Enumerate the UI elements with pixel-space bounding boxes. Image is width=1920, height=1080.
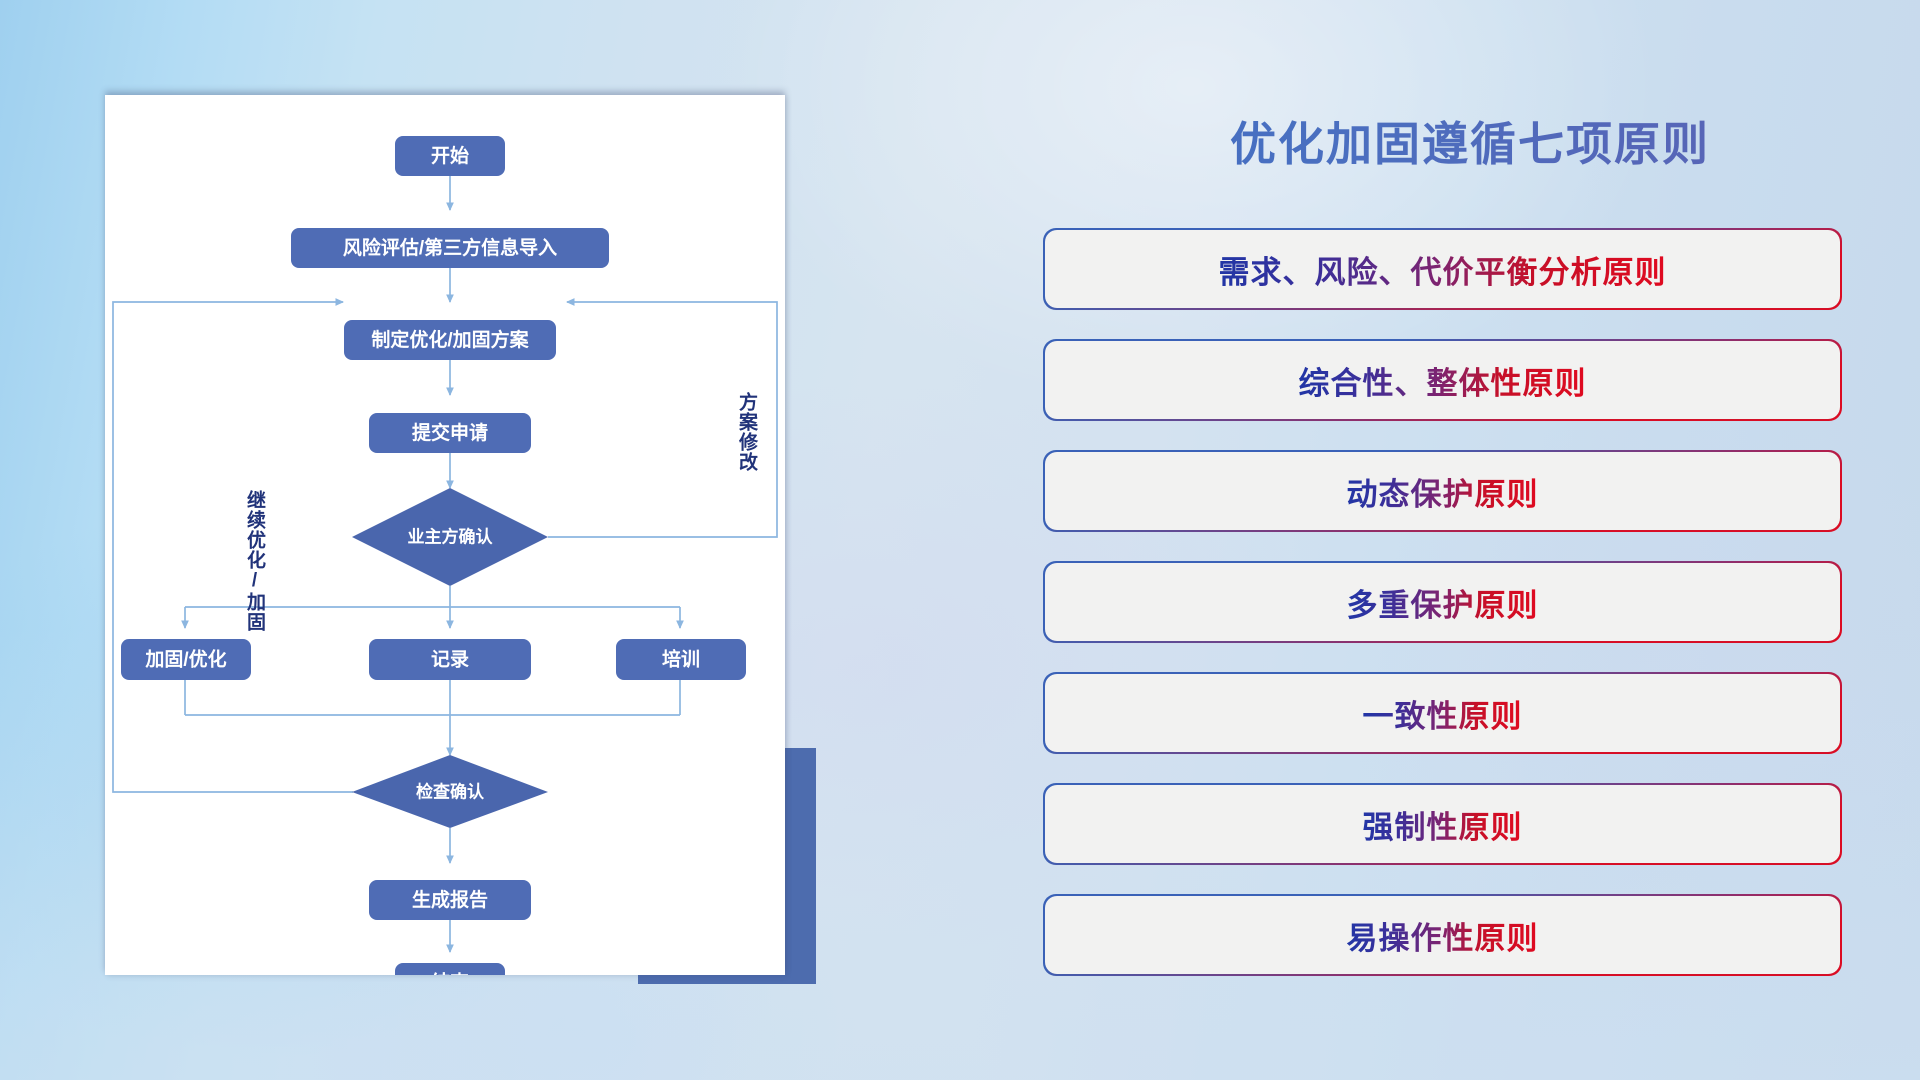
flow-node-train: 培训 <box>616 639 746 680</box>
flowchart-card: 开始 风险评估/第三方信息导入 制定优化/加固方案 提交申请 业主方确认 加固/… <box>105 95 785 975</box>
principle-label-4: 多重保护原则 <box>1347 580 1539 625</box>
flow-node-submit-label: 提交申请 <box>412 421 488 444</box>
flow-node-risk: 风险评估/第三方信息导入 <box>291 228 609 268</box>
flow-node-submit: 提交申请 <box>369 413 531 453</box>
flowchart-diagram: 开始 风险评估/第三方信息导入 制定优化/加固方案 提交申请 业主方确认 加固/… <box>105 95 785 975</box>
principle-label-5: 一致性原则 <box>1363 691 1523 736</box>
principles-list: 需求、风险、代价平衡分析原则 综合性、整体性原则 动态保护原则 多重保护原则 一… <box>1020 230 1920 1007</box>
flow-node-record-label: 记录 <box>431 649 469 671</box>
principle-label-3: 动态保护原则 <box>1347 469 1539 514</box>
flow-node-train-label: 培训 <box>662 648 700 671</box>
principle-card-3[interactable]: 动态保护原则 <box>1045 452 1840 530</box>
principle-card-5[interactable]: 一致性原则 <box>1045 674 1840 752</box>
flow-node-reinforce-label: 加固/优化 <box>144 648 226 671</box>
flow-node-check-label: 检查确认 <box>416 782 485 802</box>
flow-node-start: 开始 <box>395 136 505 176</box>
flow-node-record: 记录 <box>369 639 531 680</box>
panel-title: 优化加固遵循七项原则 <box>1020 108 1920 174</box>
flow-node-plan-label: 制定优化/加固方案 <box>371 328 529 351</box>
flow-node-owner-confirm: 业主方确认 <box>352 488 548 586</box>
flow-node-report: 生成报告 <box>369 880 531 920</box>
principles-panel: 优化加固遵循七项原则 需求、风险、代价平衡分析原则 综合性、整体性原则 动态保护… <box>1020 0 1920 1080</box>
principle-label-6: 强制性原则 <box>1363 802 1523 847</box>
principle-label-1: 需求、风险、代价平衡分析原则 <box>1219 247 1667 292</box>
principle-card-7[interactable]: 易操作性原则 <box>1045 896 1840 974</box>
flow-node-owner-confirm-label: 业主方确认 <box>408 527 494 547</box>
flow-node-check: 检查确认 <box>352 755 548 828</box>
flow-node-end: 结束 <box>395 963 505 975</box>
principle-card-4[interactable]: 多重保护原则 <box>1045 563 1840 641</box>
principle-card-2[interactable]: 综合性、整体性原则 <box>1045 341 1840 419</box>
flow-node-start-label: 开始 <box>431 144 469 167</box>
flow-edge-label-right-loop: 方案修改 <box>737 392 756 472</box>
principle-card-6[interactable]: 强制性原则 <box>1045 785 1840 863</box>
flow-edge-label-left-loop: 继续优化/加固 <box>245 490 264 632</box>
flow-node-reinforce: 加固/优化 <box>121 639 251 680</box>
principle-label-2: 综合性、整体性原则 <box>1299 358 1587 403</box>
flow-node-plan: 制定优化/加固方案 <box>344 320 556 360</box>
flow-node-report-label: 生成报告 <box>412 888 488 911</box>
principle-label-7: 易操作性原则 <box>1347 913 1539 958</box>
principle-card-1[interactable]: 需求、风险、代价平衡分析原则 <box>1045 230 1840 308</box>
flow-node-risk-label: 风险评估/第三方信息导入 <box>343 236 557 259</box>
